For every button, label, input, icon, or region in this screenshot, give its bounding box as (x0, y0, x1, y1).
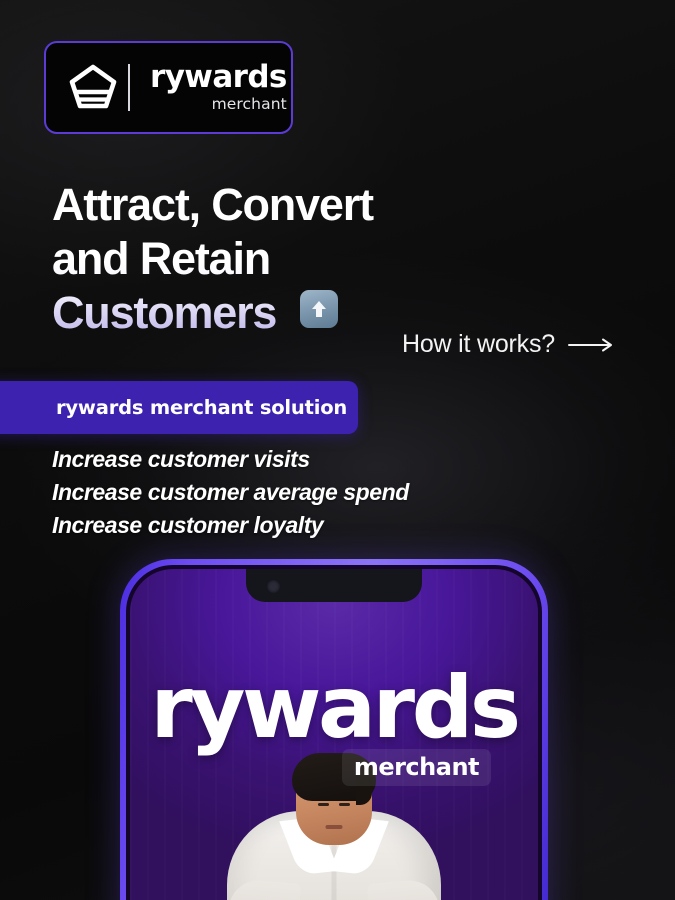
list-item: Increase customer average spend (52, 476, 409, 509)
screen-sublabel: merchant (342, 749, 491, 786)
screen-wordmark: rywards (130, 665, 538, 751)
logo-sublabel: merchant (212, 95, 287, 113)
logo-wordmark: rywards (150, 62, 287, 94)
page-title: Attract, Convert and Retain Customers (52, 178, 472, 340)
how-it-works-label: How it works? (402, 330, 555, 359)
list-item: Increase customer loyalty (52, 509, 409, 542)
front-camera-icon (267, 580, 280, 593)
phone-screen: rywards merchant (130, 569, 538, 900)
pentagon-crown-icon (62, 57, 124, 119)
how-it-works-link[interactable]: How it works? (402, 330, 614, 359)
up-arrow-emoji (300, 290, 338, 328)
logo-wordmark-group: rywards merchant (150, 62, 287, 114)
phone-bezel: rywards merchant (126, 565, 542, 900)
eye-right (339, 803, 350, 806)
logo-divider (128, 64, 130, 111)
long-right-arrow-icon (568, 338, 614, 352)
phone-notch (246, 569, 422, 602)
promo-landing-page: rywards merchant Attract, Convert and Re… (0, 0, 675, 900)
brand-logo-badge[interactable]: rywards merchant (44, 41, 293, 134)
benefits-list: Increase customer visits Increase custom… (52, 443, 409, 542)
solution-banner-label: rywards merchant solution (56, 396, 347, 419)
solution-banner[interactable]: rywards merchant solution (0, 381, 358, 434)
mouth (326, 825, 343, 829)
eye-left (318, 803, 329, 806)
list-item: Increase customer visits (52, 443, 409, 476)
phone-mockup: rywards merchant (120, 559, 548, 900)
